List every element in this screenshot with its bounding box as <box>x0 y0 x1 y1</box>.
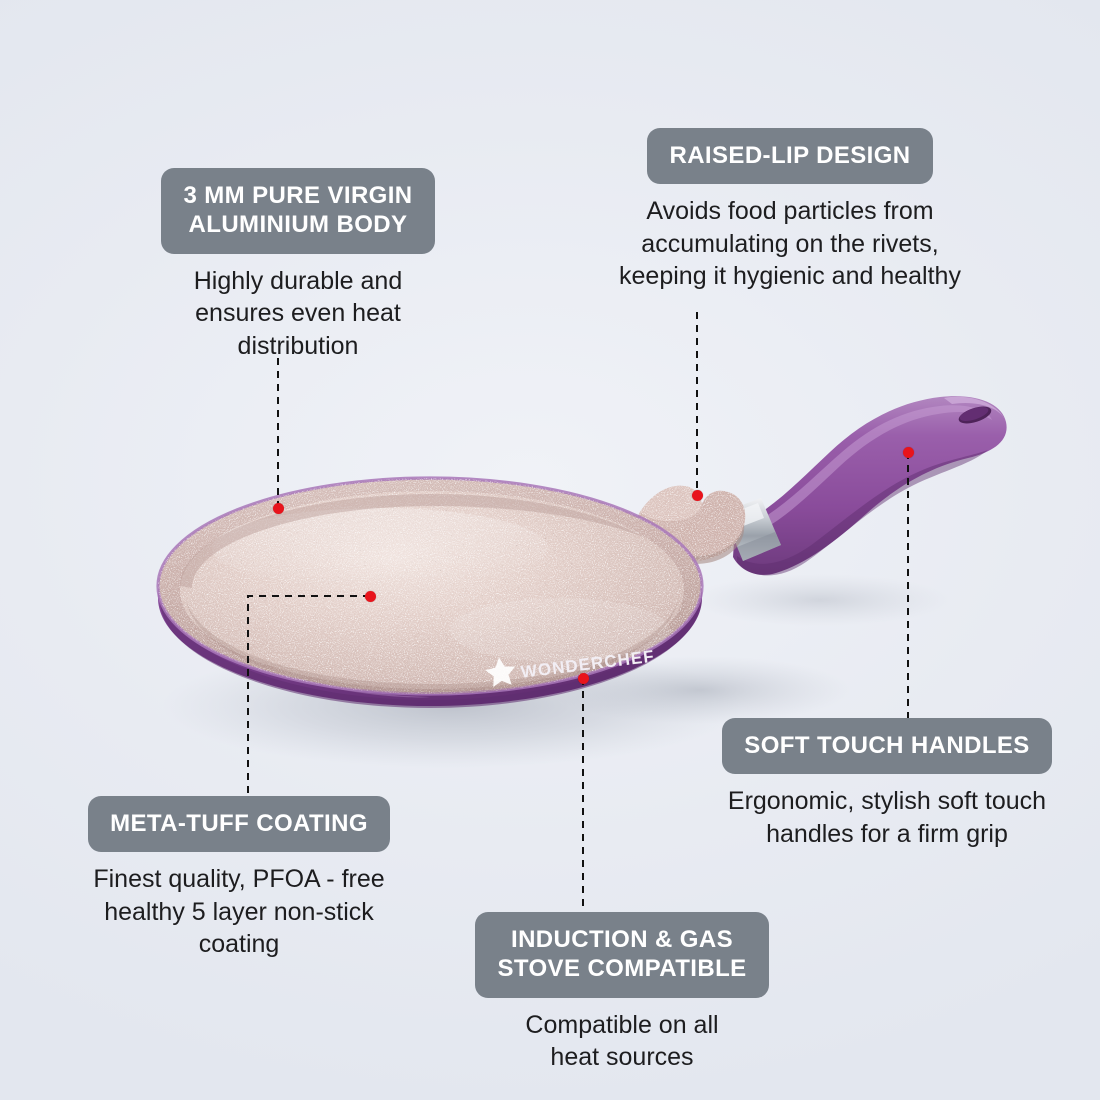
callout-raised-lip-design: RAISED-LIP DESIGN Avoids food particles … <box>580 128 1000 293</box>
marker-induction <box>578 673 589 684</box>
callout-induction-gas-stove: INDUCTION & GAS STOVE COMPATIBLE Compati… <box>452 912 792 1074</box>
marker-aluminium-body <box>273 503 284 514</box>
callout-description-aluminium-body: Highly durable and ensures even heat dis… <box>108 265 488 363</box>
pan-handle <box>723 396 1007 575</box>
marker-soft-touch <box>903 447 914 458</box>
brand-logo: WONDERCHEF <box>484 639 656 688</box>
pan-body: WONDERCHEF <box>158 478 745 708</box>
marker-meta-tuff <box>365 591 376 602</box>
callout-title-raised-lip-design: RAISED-LIP DESIGN <box>647 128 932 184</box>
callout-description-soft-touch-handles: Ergonomic, stylish soft touch handles fo… <box>692 785 1082 850</box>
callout-description-induction-gas-stove: Compatible on all heat sources <box>452 1009 792 1074</box>
callout-meta-tuff-coating: META-TUFF COATING Finest quality, PFOA -… <box>58 796 420 961</box>
callout-title-meta-tuff-coating: META-TUFF COATING <box>88 796 390 852</box>
leader-meta-tuff <box>248 596 370 800</box>
callout-soft-touch-handles: SOFT TOUCH HANDLES Ergonomic, stylish so… <box>692 718 1082 850</box>
callout-description-meta-tuff-coating: Finest quality, PFOA - free healthy 5 la… <box>58 863 420 961</box>
callout-aluminium-body: 3 MM PURE VIRGIN ALUMINIUM BODY Highly d… <box>108 168 488 362</box>
infographic-canvas: WONDERCHEF 3 MM PURE VIRGIN ALUMINIUM BO… <box>0 0 1100 1100</box>
callout-title-soft-touch-handles: SOFT TOUCH HANDLES <box>722 718 1051 774</box>
callout-title-aluminium-body: 3 MM PURE VIRGIN ALUMINIUM BODY <box>161 168 434 254</box>
marker-raised-lip <box>692 490 703 501</box>
handle-ferrule <box>723 498 781 561</box>
callout-title-induction-gas-stove: INDUCTION & GAS STOVE COMPATIBLE <box>475 912 768 998</box>
callout-description-raised-lip-design: Avoids food particles from accumulating … <box>580 195 1000 293</box>
